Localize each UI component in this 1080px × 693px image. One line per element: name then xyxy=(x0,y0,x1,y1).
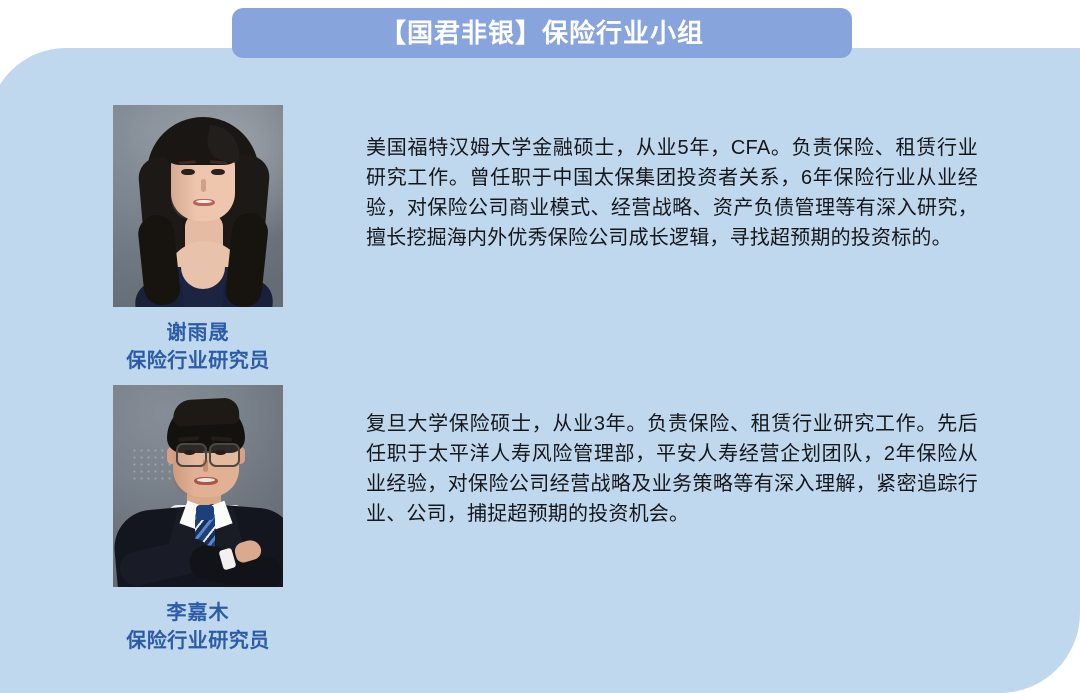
profile-bio: 美国福特汉姆大学金融硕士，从业5年，CFA。负责保险、租赁行业研究工作。曾任职于… xyxy=(366,133,978,253)
teeth xyxy=(196,200,212,203)
profile-role: 保险行业研究员 xyxy=(113,627,283,655)
hair-sweep xyxy=(172,397,239,426)
profile-name: 李嘉木 xyxy=(113,599,283,627)
profile-caption: 谢雨晟 保险行业研究员 xyxy=(113,319,283,376)
profile-caption: 李嘉木 保险行业研究员 xyxy=(113,599,283,656)
page-title-bar: 【国君非银】保险行业小组 xyxy=(232,8,852,58)
profile-photo-li-jiamu xyxy=(113,385,283,587)
eye-left xyxy=(181,169,195,175)
profile-photo-column: 李嘉木 保险行业研究员 xyxy=(113,385,283,656)
profile-photo-xie-yusheng xyxy=(113,105,283,307)
nose xyxy=(203,459,208,472)
teeth xyxy=(197,478,215,482)
profile-list: 谢雨晟 保险行业研究员 美国福特汉姆大学金融硕士，从业5年，CFA。负责保险、租… xyxy=(0,48,1080,693)
profile-photo-column: 谢雨晟 保险行业研究员 xyxy=(113,105,283,376)
eyeglasses-bridge xyxy=(203,451,209,453)
eye-right xyxy=(215,450,226,455)
profile-bio: 复旦大学保险硕士，从业3年。负责保险、租赁行业研究工作。先后任职于太平洋人寿风险… xyxy=(366,409,978,529)
eyeglasses-right-lens xyxy=(209,443,240,467)
eye-left xyxy=(184,450,195,455)
nose xyxy=(201,179,206,192)
page-title: 【国君非银】保险行业小组 xyxy=(380,20,704,46)
profile-name: 谢雨晟 xyxy=(113,319,283,347)
profile-role: 保险行业研究员 xyxy=(113,347,283,375)
eye-right xyxy=(211,169,225,175)
tie-knot xyxy=(196,505,214,520)
